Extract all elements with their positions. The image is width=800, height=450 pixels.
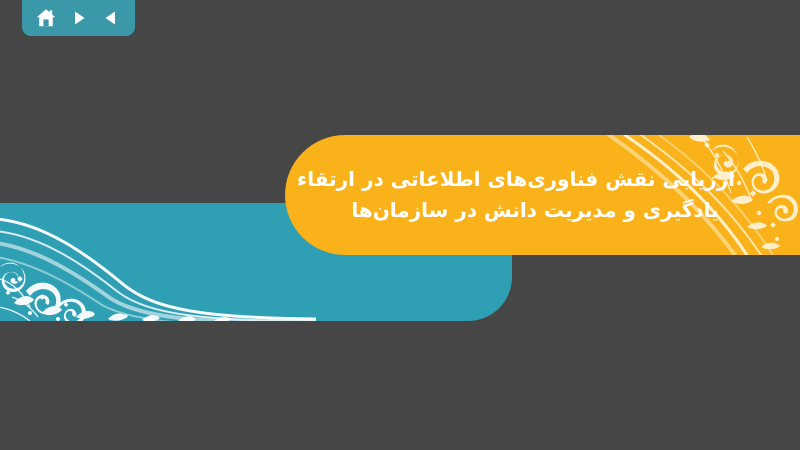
home-button[interactable] (33, 5, 59, 31)
previous-slide-button[interactable] (98, 5, 124, 31)
slide-title: ارزیابی نقش فناوری‌های اطلاعاتی در ارتقا… (335, 164, 735, 226)
arabesque-corner-ornament (0, 203, 316, 321)
title-banner: ارزیابی نقش فناوری‌های اطلاعاتی در ارتقا… (285, 135, 800, 255)
slide-title-line-1: ارزیابی نقش فناوری‌های اطلاعاتی در ارتقا… (335, 164, 735, 195)
slide-title-line-2: یادگیری و مدیریت دانش در سازمان‌ها (335, 195, 735, 226)
presentation-slide: ارزیابی نقش فناوری‌های اطلاعاتی در ارتقا… (0, 0, 800, 450)
next-slide-button[interactable] (66, 5, 92, 31)
slide-navigation-bar (22, 0, 135, 36)
